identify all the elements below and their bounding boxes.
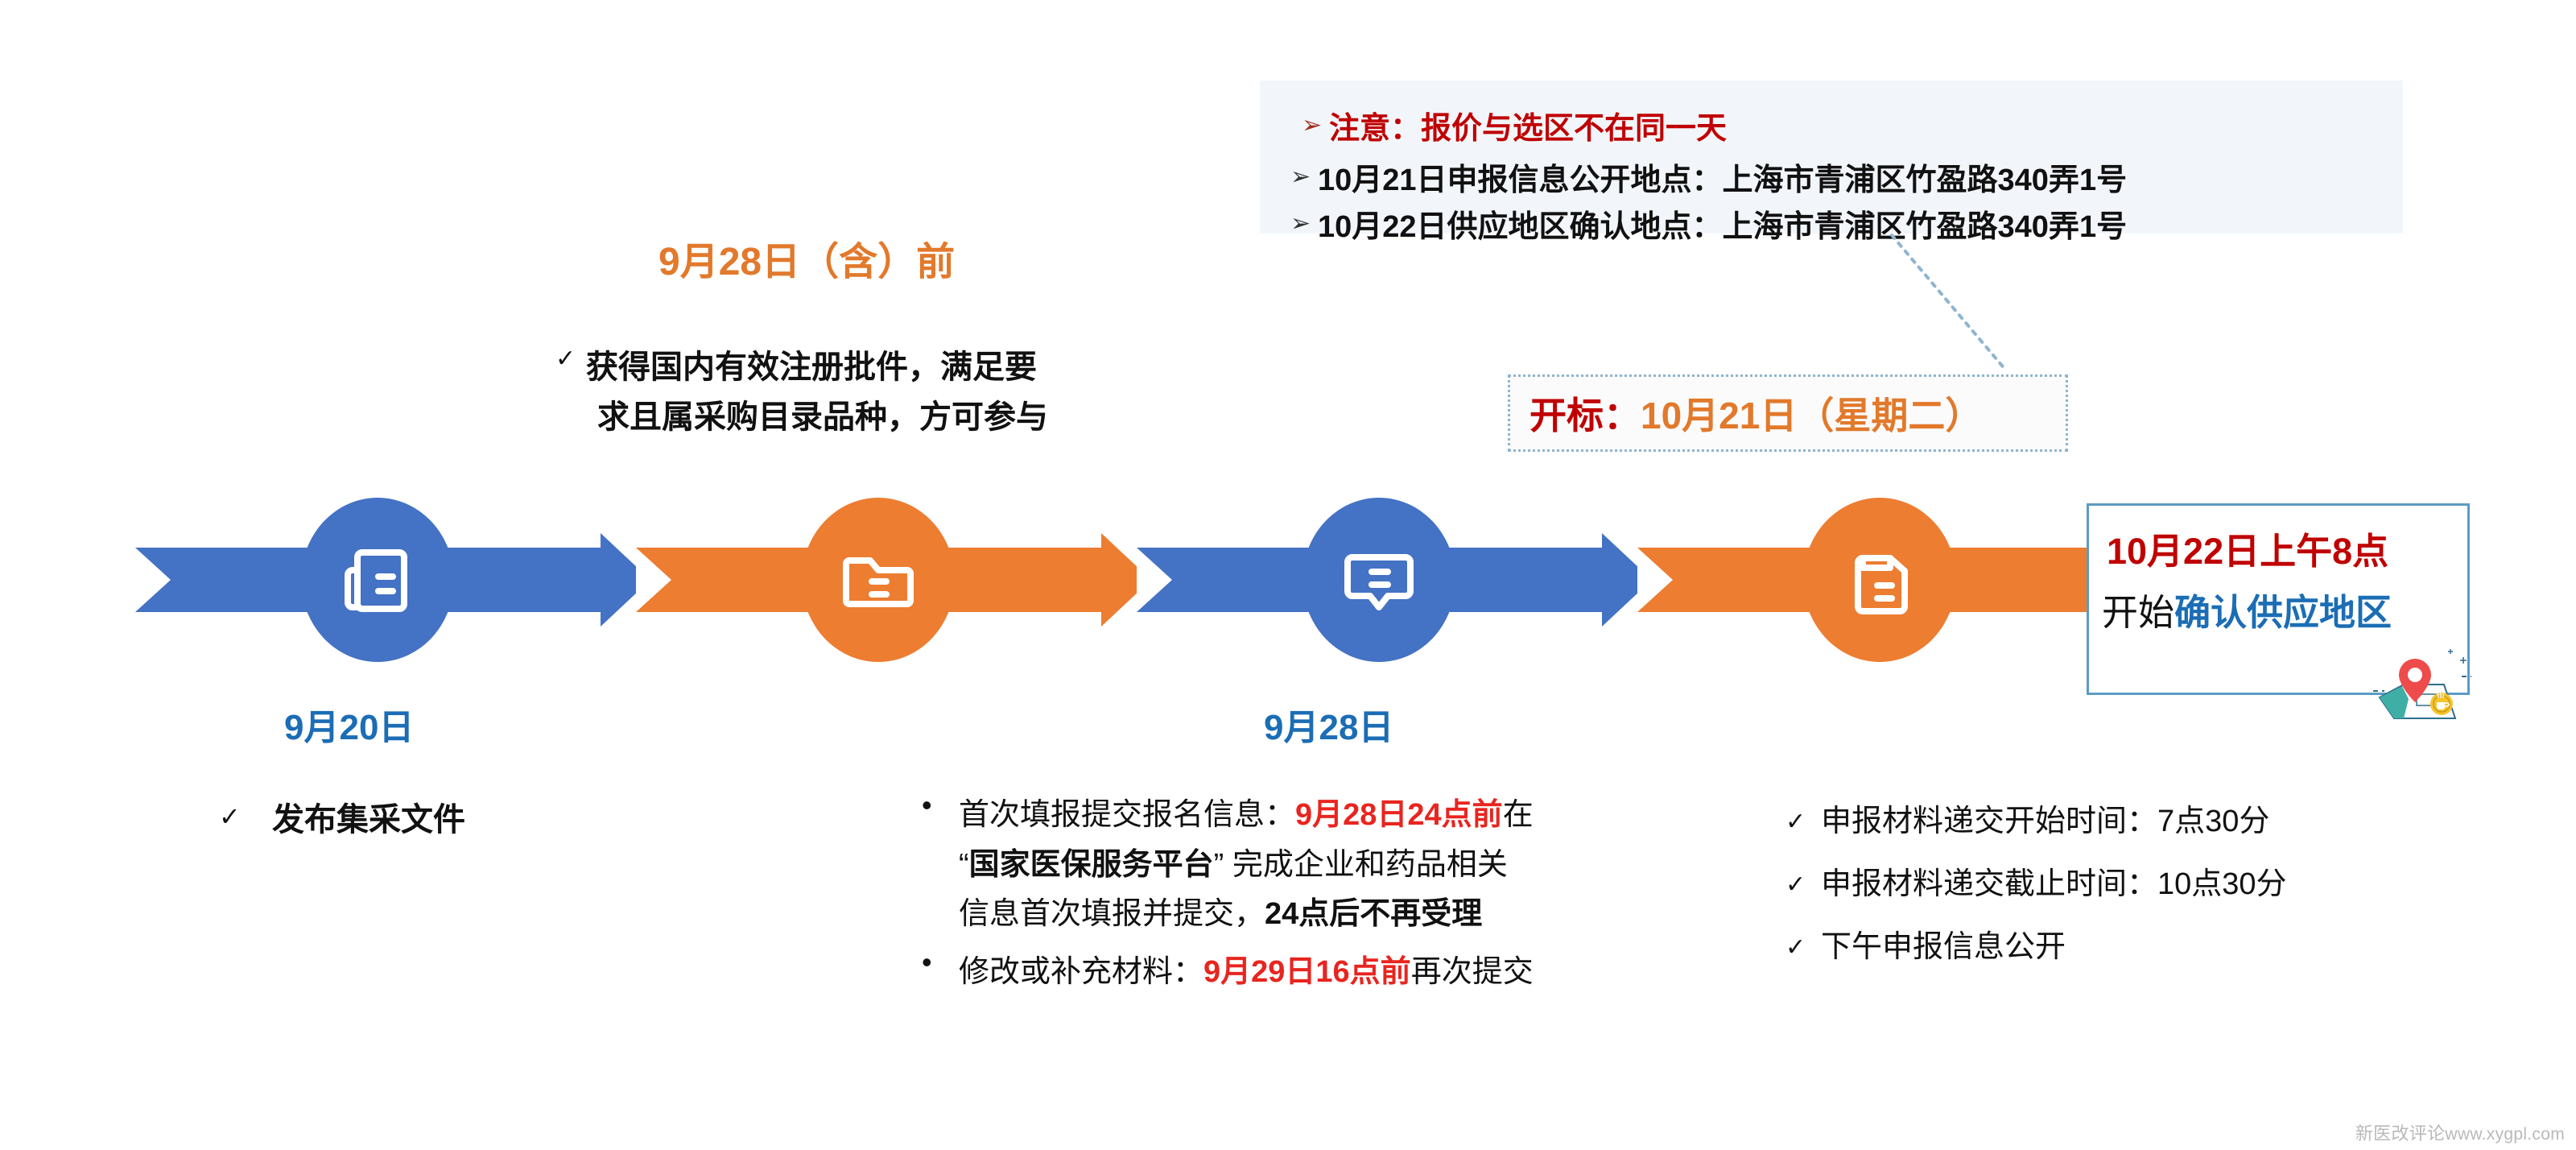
timeline-node-1[interactable] [301, 498, 454, 662]
timeline-node-2[interactable] [802, 498, 955, 662]
kaibiao-value: 10月21日（星期二） [1641, 387, 1982, 440]
stage-heading-title: 9月28日（含）前 [658, 230, 955, 286]
center-list: • 首次填报提交报名信息：9月28日24点前在 “国家医保服务平台” 完成企业和… [922, 791, 1735, 997]
callout-line-2: ➢ 10月21日申报信息公开地点：上海市青浦区竹盈路340弄1号 [1290, 155, 2127, 199]
check-icon: ✓ [1785, 873, 1821, 897]
watermark: 新医改评论www.xygpl.com [2355, 1119, 2565, 1145]
arrow-bullet-icon: ➢ [1302, 114, 1329, 138]
list-item: ✓ 发布集采文件 [219, 793, 465, 840]
center-seg-0-2: 在 [1503, 798, 1534, 832]
callout-text-1: 注意：报价与选区不在同一天 [1329, 103, 1727, 147]
list-item-cont: “国家医保服务平台” 完成企业和药品相关 [922, 841, 1735, 891]
center-seg-3-0: 修改或补充材料： [959, 955, 1203, 989]
arrow-notch [135, 548, 171, 612]
check-icon: ✓ [555, 342, 586, 371]
watermark-cn: 新医改评论 [2355, 1123, 2446, 1144]
left-list-item-0: 发布集采文件 [272, 793, 465, 840]
right-list: ✓ 申报材料递交开始时间：7点30分 ✓ 申报材料递交截止时间：10点30分 ✓… [1785, 791, 2287, 979]
list-item: • 首次填报提交报名信息：9月28日24点前在 [922, 791, 1735, 841]
map-pin-illustration [2367, 644, 2479, 733]
right-list-item-1: 申报材料递交截止时间：10点30分 [1821, 854, 2287, 916]
watermark-url: www.xygpl.com [2445, 1125, 2565, 1144]
check-icon: ✓ [219, 804, 272, 829]
list-item: ✓ 申报材料递交开始时间：7点30分 [1785, 791, 2287, 854]
center-seg-0-0: 首次填报提交报名信息： [959, 798, 1295, 832]
timeline-node-3[interactable] [1302, 498, 1455, 662]
left-list: ✓ 发布集采文件 [219, 793, 465, 840]
bullet-dot-icon: • [922, 948, 959, 977]
stage-heading-body: ✓ 获得国内有效注册批件，满足要 求且属采购目录品种，方可参与 [555, 342, 1151, 442]
speech-bubble-icon [1341, 543, 1417, 617]
stage-heading-line1: 获得国内有效注册批件，满足要 [586, 342, 1037, 392]
timeline-node-4[interactable] [1803, 498, 1956, 662]
arrow-notch [1137, 548, 1172, 612]
check-icon: ✓ [1785, 810, 1821, 834]
right-list-item-0: 申报材料递交开始时间：7点30分 [1821, 791, 2269, 854]
right-list-item-2: 下午申报信息公开 [1821, 916, 2066, 979]
callout-connector [1892, 235, 2101, 388]
supply-confirm-plain: 开始 [2102, 592, 2174, 633]
arrow-bullet-icon: ➢ [1290, 212, 1318, 236]
node-date-3: 9月28日 [1264, 698, 1393, 750]
callout-line-1: ➢ 注意：报价与选区不在同一天 [1302, 103, 1727, 147]
kaibiao-box: 开标： 10月21日（星期二） [1508, 374, 2068, 452]
newspaper-icon [343, 541, 412, 618]
list-item: • 修改或补充材料：9月29日16点前再次提交 [922, 948, 1735, 998]
center-seg-2-0: 信息首次填报并提交， [959, 897, 1265, 931]
center-seg-1-0: “ [959, 848, 969, 882]
bullet-dot-icon: • [922, 791, 959, 820]
list-item: ✓ 下午申报信息公开 [1785, 916, 2287, 979]
center-seg-2-1: 24点后不再受理 [1265, 897, 1482, 931]
center-seg-3-1: 9月29日16点前 [1203, 955, 1411, 989]
callout-text-2: 10月21日申报信息公开地点：上海市青浦区竹盈路340弄1号 [1318, 155, 2127, 199]
folder-icon [841, 543, 915, 617]
supply-confirm-line1: 10月22日上午8点 [2107, 522, 2388, 574]
center-seg-1-1: 国家医保服务平台 [969, 848, 1214, 882]
arrow-notch [1637, 548, 1673, 612]
center-seg-1-3: 完成企业和药品相关 [1224, 848, 1508, 882]
arrow-bullet-icon: ➢ [1290, 165, 1318, 189]
list-item-cont: 信息首次填报并提交，24点后不再受理 [922, 890, 1735, 940]
center-seg-0-1: 9月28日24点前 [1295, 798, 1503, 832]
list-item: ✓ 申报材料递交截止时间：10点30分 [1785, 854, 2287, 916]
center-seg-1-2: ” [1214, 848, 1224, 882]
center-seg-3-2: 再次提交 [1411, 955, 1534, 989]
callout-box: ➢ 注意：报价与选区不在同一天 ➢ 10月21日申报信息公开地点：上海市青浦区竹… [1260, 81, 2403, 234]
node-date-1: 9月20日 [284, 698, 414, 750]
kaibiao-label: 开标： [1510, 387, 1641, 440]
clipboard-icon [1845, 540, 1914, 619]
stage-heading-line2: 求且属采购目录品种，方可参与 [597, 399, 1048, 435]
check-icon: ✓ [1785, 936, 1821, 960]
arrow-notch [636, 548, 671, 612]
supply-confirm-accent: 确认供应地区 [2174, 592, 2392, 633]
